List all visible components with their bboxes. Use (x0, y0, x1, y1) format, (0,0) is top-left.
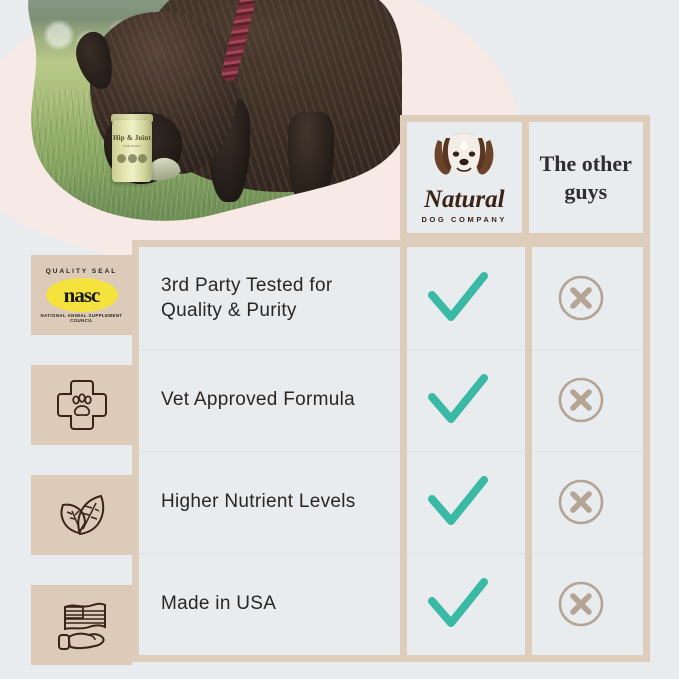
brand-mark-cell (397, 269, 520, 327)
other-guys-label: The other guys (529, 150, 644, 205)
leaves-icon (51, 489, 113, 541)
tile-vet-approved (31, 365, 132, 445)
cross-circle-icon (557, 376, 605, 424)
feature-label: Made in USA (139, 591, 397, 616)
brand-logo: Natural DOG COMPANY (408, 132, 520, 224)
table-row: Vet Approved Formula (139, 349, 643, 451)
brand-mark-cell (397, 575, 520, 633)
other-mark-cell (520, 580, 643, 628)
tile-nasc-seal: QUALITY SEAL nasc NATIONAL ANIMAL SUPPLE… (31, 255, 132, 335)
nasc-seal-top-text: QUALITY SEAL (40, 268, 124, 275)
other-mark-cell (520, 478, 643, 526)
other-mark-cell (520, 274, 643, 322)
table-body: 3rd Party Tested for Quality & Purity Ve… (139, 247, 643, 655)
brand-mark-cell (397, 371, 520, 429)
brand-logo-wordmark: Natural (408, 187, 520, 212)
check-icon (427, 473, 489, 531)
check-icon (427, 371, 489, 429)
product-jar-seals (117, 154, 147, 163)
table-row: Made in USA (139, 553, 643, 655)
hand-holding-usa-flag-icon (51, 597, 113, 653)
cross-circle-icon (557, 580, 605, 628)
feature-label: Higher Nutrient Levels (139, 489, 397, 514)
brand-mark-cell (397, 473, 520, 531)
check-icon (427, 269, 489, 327)
product-jar: Hip & Joint FOR DOGS (112, 120, 152, 182)
nasc-seal-bottom-text: NATIONAL ANIMAL SUPPLEMENT COUNCIL (40, 313, 124, 323)
other-mark-cell (520, 376, 643, 424)
column-separator-brand (400, 240, 407, 662)
cross-circle-icon (557, 478, 605, 526)
brand-logo-subtitle: DOG COMPANY (408, 215, 520, 224)
boston-terrier-face-icon (424, 132, 504, 184)
table-row: 3rd Party Tested for Quality & Purity (139, 247, 643, 349)
feature-label: Vet Approved Formula (139, 387, 397, 412)
feature-label: 3rd Party Tested for Quality & Purity (139, 273, 397, 323)
cross-circle-icon (557, 274, 605, 322)
table-header: Natural DOG COMPANY The other guys (400, 115, 650, 240)
header-cell-brand: Natural DOG COMPANY (400, 115, 529, 240)
vet-cross-paw-icon (54, 377, 110, 433)
feature-icon-tiles: QUALITY SEAL nasc NATIONAL ANIMAL SUPPLE… (31, 255, 132, 665)
check-icon (427, 575, 489, 633)
tile-higher-nutrients (31, 475, 132, 555)
nasc-quality-seal-icon: QUALITY SEAL nasc NATIONAL ANIMAL SUPPLE… (40, 268, 124, 322)
header-cell-other: The other guys (529, 115, 651, 240)
column-separator-other (525, 240, 532, 662)
product-jar-sublabel: FOR DOGS (112, 144, 152, 148)
tile-made-in-usa (31, 585, 132, 665)
table-row: Higher Nutrient Levels (139, 451, 643, 553)
product-jar-label: Hip & Joint (112, 134, 152, 142)
nasc-seal-wordmark: nasc (64, 285, 100, 306)
